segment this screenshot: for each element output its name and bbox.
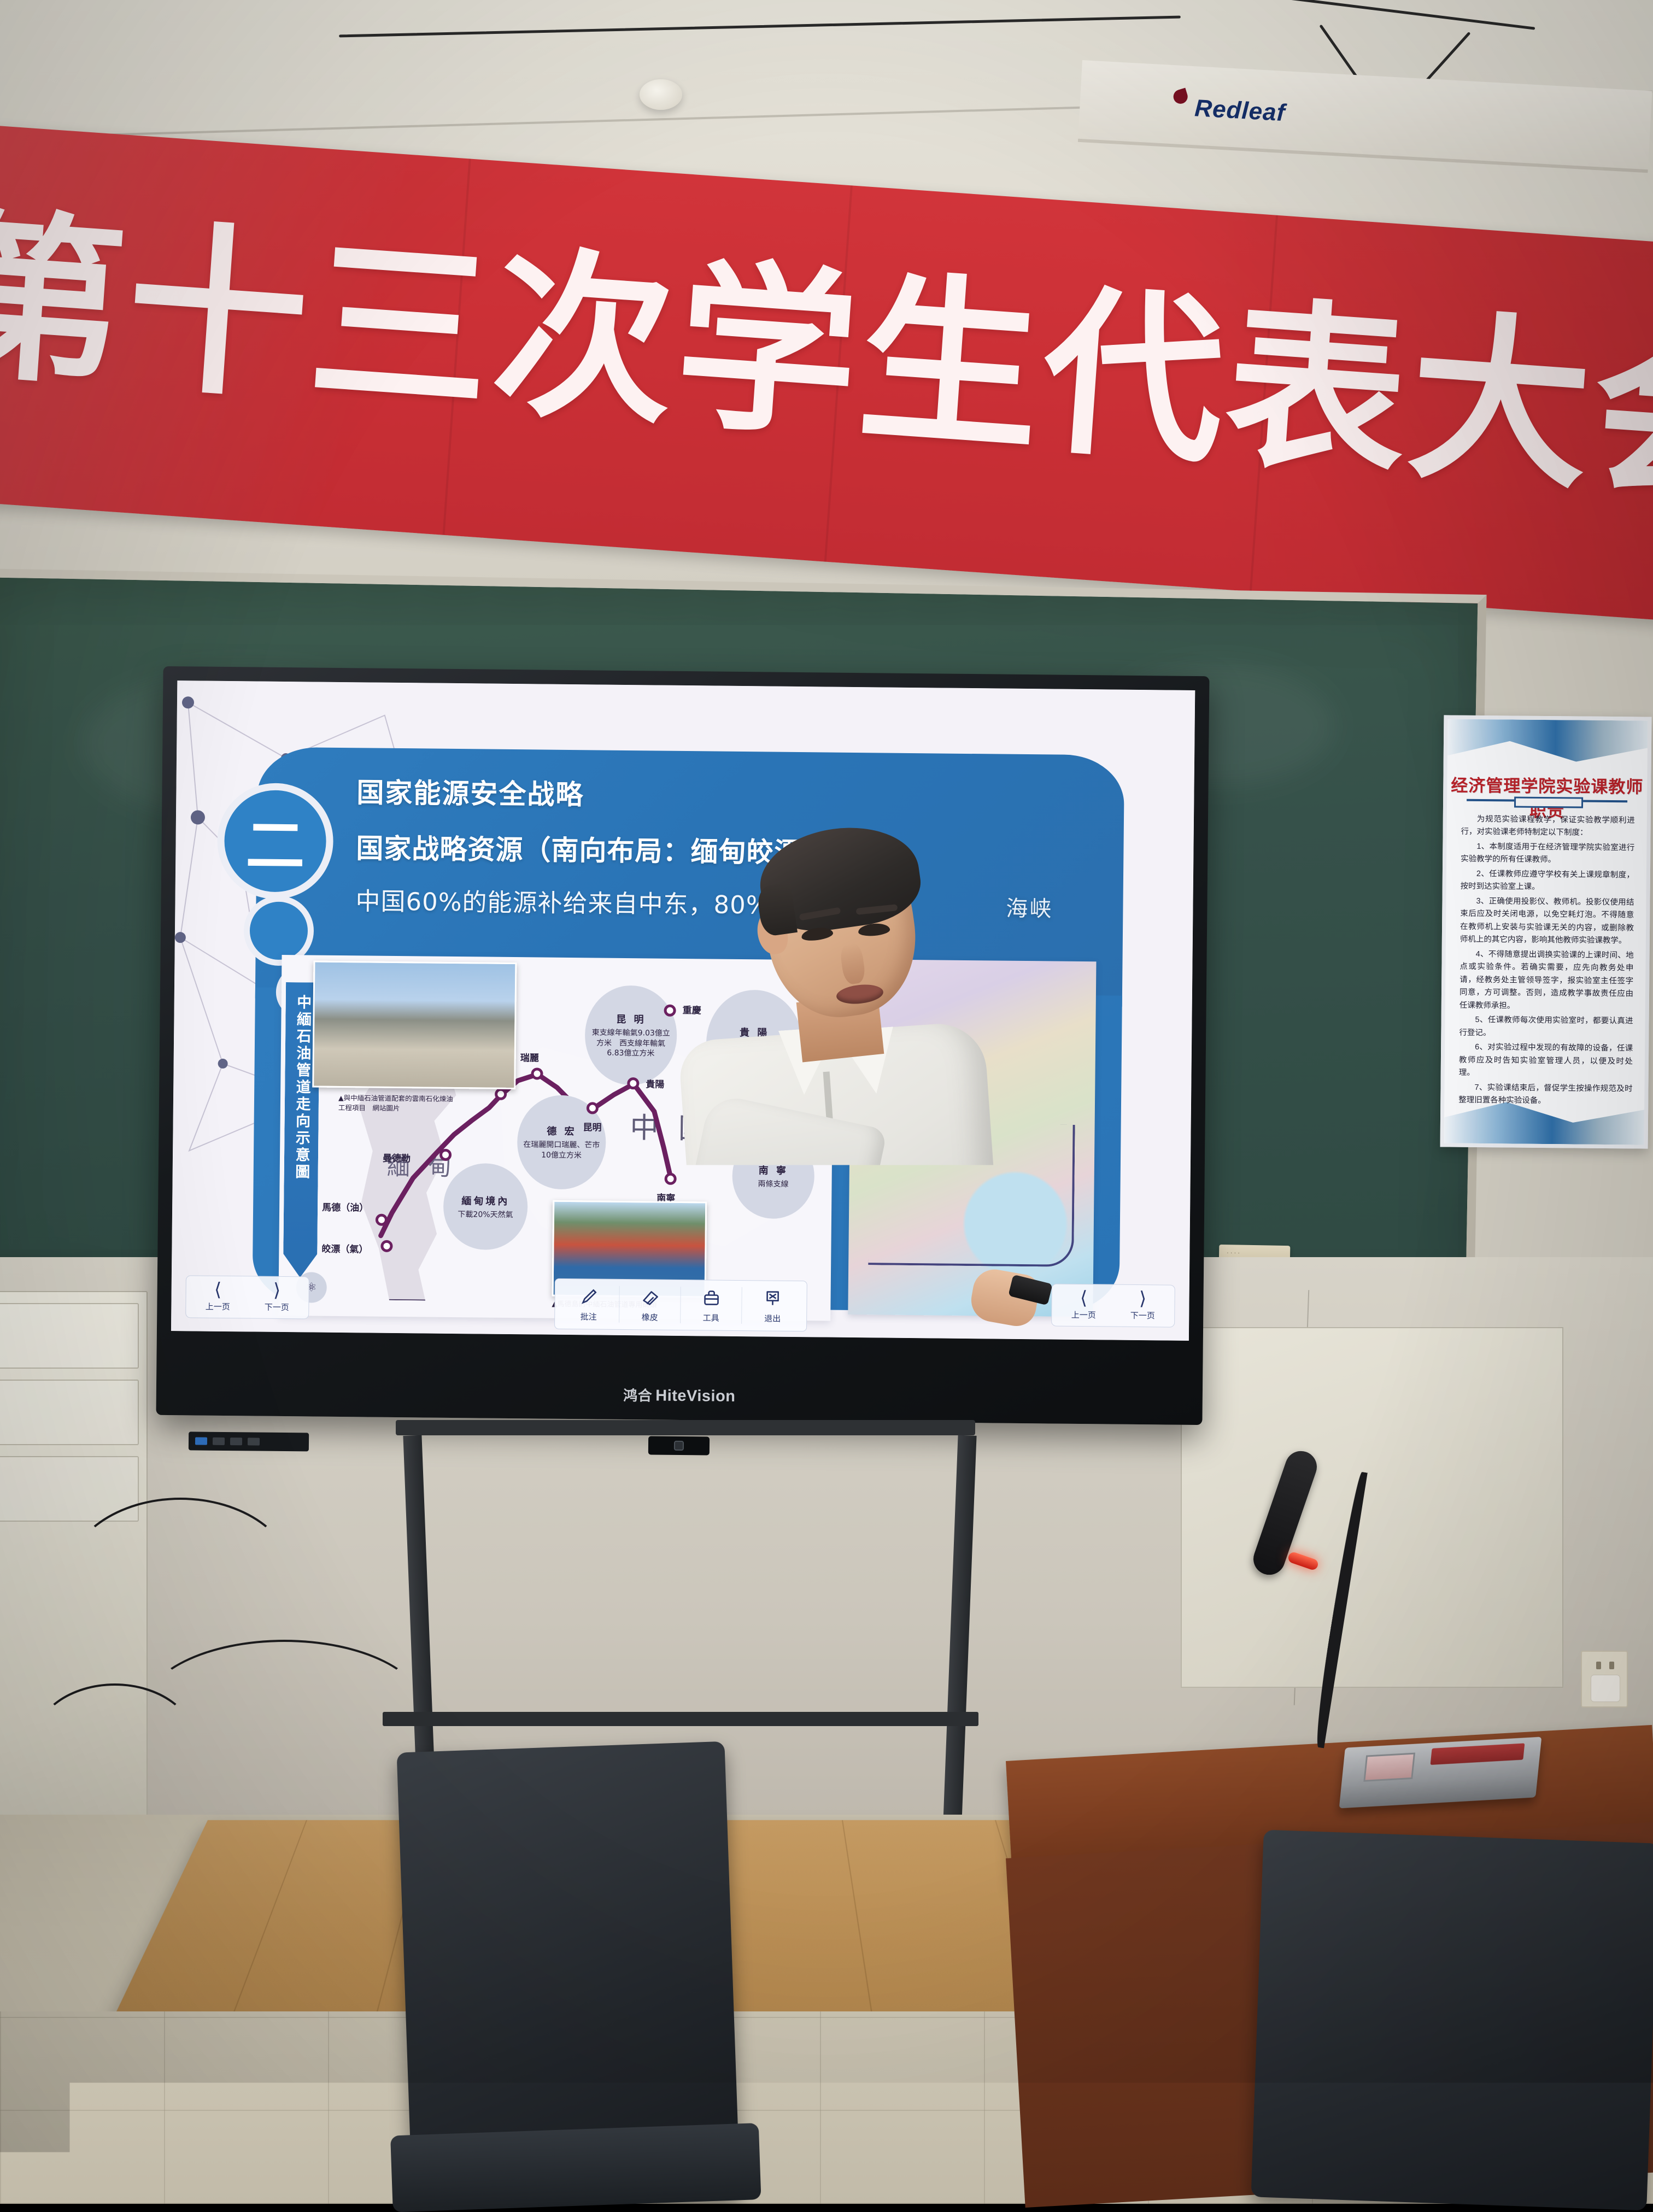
microphone-base[interactable] [1339, 1737, 1542, 1809]
brand-cn: 鸿合 [623, 1387, 652, 1404]
chair-front-right [1251, 1830, 1653, 2211]
leaf-icon [1171, 88, 1189, 105]
refinery-photo-caption: ▲與中緬石油管道配套的雲南石化煉油工程項目 網站圖片 [338, 1093, 459, 1113]
map-pin-kyaukpyu-gas [380, 1240, 392, 1252]
annotate-button[interactable]: 批注 [558, 1286, 620, 1323]
poster-paragraph: 5、任课教师每次使用实验室时，都要认真进行登记。 [1459, 1014, 1633, 1041]
poster-paragraph: 2、任课教师应遵守学校有关上课规章制度，按时到达实验室上课。 [1461, 868, 1634, 895]
prev-page-button-right[interactable]: ⟨ 上一页 [1054, 1290, 1113, 1321]
wall-socket[interactable] [1581, 1651, 1628, 1708]
annotation-text: 東支線年輸氣9.03億立方米 西支線年輸氣6.83億立方米 [590, 1028, 672, 1059]
pen-icon [578, 1286, 600, 1307]
next-page-label: 下一页 [265, 1301, 289, 1313]
page-nav-left[interactable]: ⟨ 上一页 ⟩ 下一页 [185, 1276, 309, 1319]
section-number-badge: 二 [217, 783, 334, 900]
map-pin-made-oil [376, 1214, 388, 1226]
next-page-button-left[interactable]: ⟩ 下一页 [247, 1282, 307, 1313]
wall-poster: 经济管理学院实验课教师职责 为规范实验课程教学，保证实验教学顺利进行，对实验课老… [1440, 715, 1652, 1148]
refinery-photo [312, 961, 517, 1090]
poster-swoosh-top [1447, 719, 1652, 762]
map-pin-nankan [495, 1088, 507, 1100]
map-label-guiyang: 貴陽 [646, 1076, 664, 1090]
annotation-title: 緬甸境內 [461, 1193, 509, 1208]
annotation-bubble-myanmar-domestic: 緬甸境內 下載20%天然氣 [443, 1163, 528, 1250]
chevron-left-icon: ⟨ [1080, 1290, 1088, 1307]
right-cabinet [1181, 1327, 1563, 1688]
map-label-ruili: 瑞麗 [520, 1050, 539, 1064]
floor-cable [66, 1498, 295, 1662]
eraser-label: 橡皮 [642, 1311, 658, 1323]
map-label-kyaukpyu-gas: 皎漂（氣） [321, 1244, 371, 1255]
poster-paragraph: 1、本制度适用于在经济管理学院实验室进行实验教学的所有任课教师。 [1461, 841, 1634, 868]
next-page-label: 下一页 [1130, 1310, 1155, 1321]
presenter [672, 836, 1022, 1897]
eraser-button[interactable]: 橡皮 [619, 1286, 681, 1323]
annotation-title: 昆 明 [616, 1011, 646, 1026]
map-pin-mandalay [439, 1149, 452, 1161]
poster-paragraph: 4、不得随意提出调换实验课的上课时间、地点或实验条件。若确实需要，应先向教务处申… [1459, 948, 1634, 1013]
prev-page-label: 上一页 [1071, 1309, 1096, 1321]
microphone-display [1363, 1753, 1415, 1782]
poster-paragraph: 为规范实验课程教学，保证实验教学顺利进行，对实验课老师特制定以下制度： [1461, 813, 1634, 841]
eraser-icon [639, 1286, 661, 1308]
map-ribbon-text: 中緬石油管道走向示意圖 [290, 994, 313, 1181]
floor-cable [33, 1683, 197, 1804]
poster-paragraph: 3、正确使用投影仪、教师机。投影仪使用结束后应及时关闭电源，以免空耗灯泡。不得随… [1460, 895, 1634, 948]
poster-body: 为规范实验课程教学，保证实验教学顺利进行，对实验课老师特制定以下制度： 1、本制… [1458, 813, 1635, 1110]
map-pin-guiyang [627, 1077, 639, 1089]
classroom-scene: Redleaf 第十三次学生代表大会第四代 · · · ·· · · · · ·… [0, 0, 1653, 2204]
chevron-right-icon: ⟩ [1139, 1290, 1147, 1307]
annotation-text: 下載20%天然氣 [458, 1210, 513, 1221]
ceiling-unit-brand: Redleaf [1194, 95, 1286, 127]
next-page-button-right[interactable]: ⟩ 下一页 [1113, 1290, 1173, 1322]
page-nav-right[interactable]: ⟨ 上一页 ⟩ 下一页 [1051, 1284, 1175, 1328]
map-label-made-oil: 馬德（油） [322, 1202, 371, 1214]
chevron-left-icon: ⟨ [214, 1282, 222, 1299]
annotation-title: 德 宏 [547, 1124, 577, 1139]
map-pin-kunming [587, 1102, 599, 1114]
presenter-shoe [710, 2063, 894, 2141]
smart-board-ports[interactable] [189, 1431, 309, 1451]
map-pin-ruili [531, 1067, 543, 1079]
prev-page-label: 上一页 [206, 1301, 230, 1312]
slide-heading-line1: 国家能源安全战略 [356, 771, 1078, 817]
ceiling-lamp [640, 79, 682, 110]
chevron-right-icon: ⟩ [273, 1282, 281, 1299]
plug-adapter [1591, 1675, 1620, 1702]
map-label-kunming: 昆明 [583, 1119, 601, 1133]
annotation-bubble-kunming: 昆 明 東支線年輸氣9.03億立方米 西支線年輸氣6.83億立方米 [584, 985, 677, 1086]
banner-title: 第十三次学生代表大会第四代 [0, 204, 1653, 551]
poster-paragraph: 6、对实验过程中发现的有故障的设备，任课教师应及时告知实验室管理人员，以便及时处… [1459, 1041, 1633, 1081]
map-label-mandalay: 曼德勒 [383, 1151, 411, 1164]
poster-paragraph: 7、实验课结束后，督促学生按操作规范及时整理旧置各种实验设备。 [1458, 1081, 1632, 1108]
annotate-label: 批注 [581, 1311, 597, 1322]
prev-page-button-left[interactable]: ⟨ 上一页 [188, 1282, 248, 1313]
annotation-text: 在瑞麗開口瑞麗、芒市10億立方米 [523, 1140, 600, 1161]
microphone-talk-button[interactable] [1431, 1743, 1525, 1765]
